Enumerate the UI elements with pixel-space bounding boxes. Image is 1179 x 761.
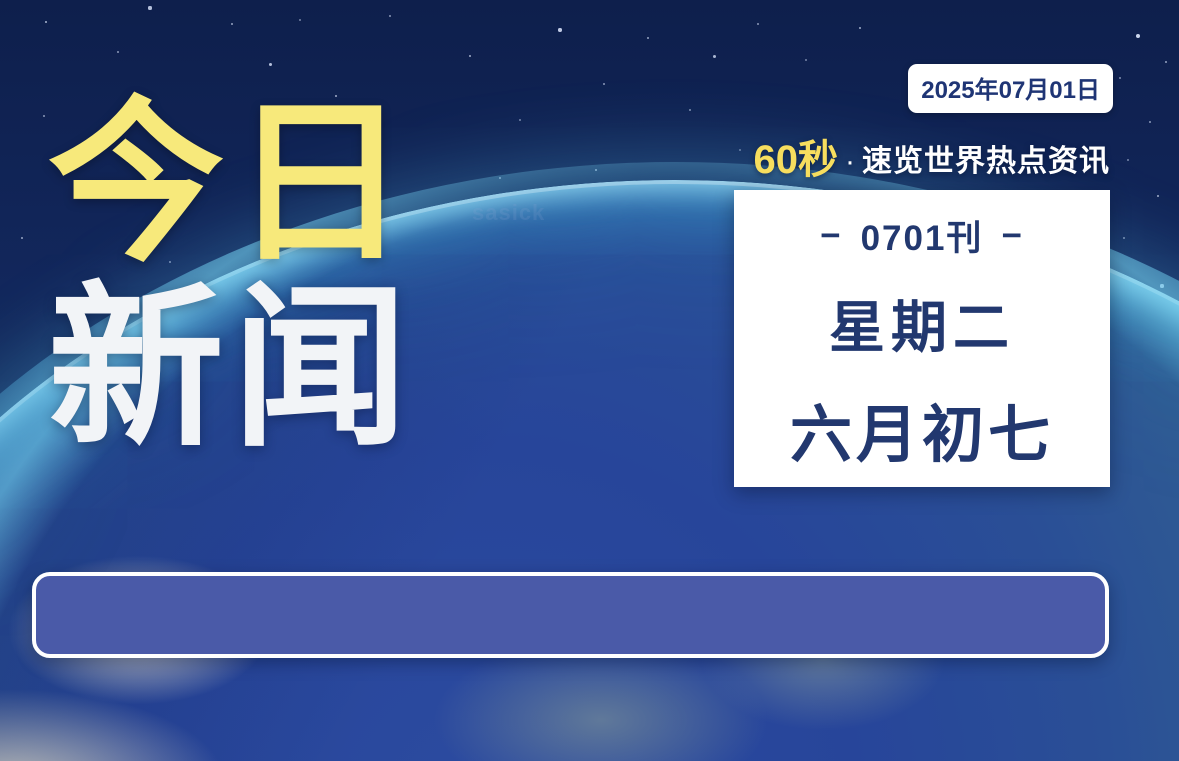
- star-dot: [1149, 121, 1151, 123]
- star-dot: [713, 55, 716, 58]
- news-poster: sasick 今日 新闻 2025年07月01日 60秒 · 速览世界热点资讯 …: [0, 0, 1179, 761]
- page-title: 今日 新闻: [48, 100, 416, 454]
- star-dot: [757, 23, 759, 25]
- issue-number-row: − 0701刊 −: [820, 210, 1024, 261]
- star-dot: [689, 109, 691, 111]
- star-dot: [299, 19, 301, 21]
- star-dot: [1157, 195, 1160, 198]
- star-dot: [231, 23, 233, 25]
- issue-info-card: − 0701刊 − 星期二 六月初七: [734, 190, 1110, 487]
- star-dot: [859, 27, 862, 30]
- tagline-separator: ·: [844, 147, 856, 180]
- star-dot: [45, 21, 48, 24]
- star-dot: [739, 149, 741, 151]
- star-dot: [603, 83, 605, 85]
- issue-dash-right: −: [1001, 216, 1023, 256]
- headline-line-2: 新闻: [48, 285, 416, 454]
- issue-number: 0701刊: [861, 210, 984, 261]
- star-dot: [269, 63, 272, 66]
- star-dot: [558, 28, 561, 31]
- tagline-highlight: 60秒: [754, 140, 839, 180]
- background-watermark: sasick: [472, 200, 545, 226]
- star-dot: [389, 15, 391, 17]
- star-dot: [1127, 159, 1129, 161]
- star-dot: [1165, 61, 1168, 64]
- star-dot: [647, 37, 650, 40]
- tagline-text: 速览世界热点资讯: [862, 147, 1110, 180]
- headline-line-1: 今日: [48, 100, 416, 269]
- star-dot: [21, 237, 24, 240]
- star-dot: [43, 115, 45, 117]
- star-dot: [148, 6, 151, 9]
- date-badge: 2025年07月01日: [908, 64, 1113, 113]
- issue-dash-left: −: [820, 216, 842, 256]
- weekday-label: 星期二: [829, 283, 1015, 364]
- star-dot: [519, 119, 521, 121]
- star-dot: [1119, 77, 1121, 79]
- star-dot: [117, 51, 119, 53]
- star-dot: [805, 59, 807, 61]
- news-content-bar: [32, 572, 1109, 658]
- tagline: 60秒 · 速览世界热点资讯: [754, 140, 1111, 180]
- star-dot: [1136, 34, 1140, 38]
- star-dot: [1123, 237, 1125, 239]
- star-dot: [469, 55, 472, 58]
- lunar-date-label: 六月初七: [790, 384, 1054, 474]
